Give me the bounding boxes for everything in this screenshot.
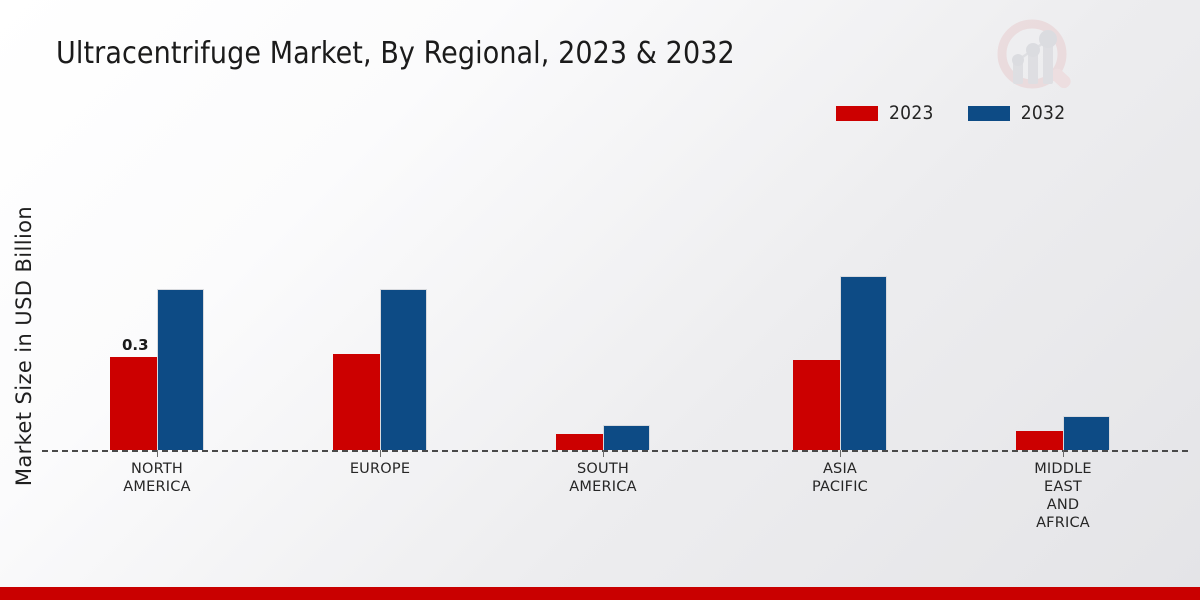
x-axis-label-asia-pacific: ASIAPACIFIC [755,460,925,496]
x-axis-label-europe: EUROPE [295,460,465,478]
bar-2023-north-america[interactable] [110,357,157,450]
x-axis-tick [380,450,381,457]
bar-2032-south-america[interactable] [603,425,650,450]
bar-2023-middle-east-and-africa[interactable] [1016,431,1063,450]
bar-value-label: 0.3 [122,336,149,354]
bar-2032-asia-pacific[interactable] [840,276,887,450]
x-axis-tick [840,450,841,457]
footer-accent-bar [0,587,1200,600]
x-axis-label-north-america: NORTHAMERICA [72,460,242,496]
x-axis-baseline [42,450,1188,452]
x-axis-tick [603,450,604,457]
x-axis-tick [157,450,158,457]
bar-2032-europe[interactable] [380,289,427,450]
bar-2023-europe[interactable] [333,354,380,450]
bar-2023-south-america[interactable] [556,434,603,450]
bar-2032-middle-east-and-africa[interactable] [1063,416,1110,450]
bar-2032-north-america[interactable] [157,289,204,450]
x-axis-label-south-america: SOUTHAMERICA [518,460,688,496]
x-axis-tick [1063,450,1064,457]
bar-2023-asia-pacific[interactable] [793,360,840,450]
chart-canvas: Ultracentrifuge Market, By Regional, 202… [0,0,1200,600]
x-axis-label-middle-east-and-africa: MIDDLEEASTANDAFRICA [978,460,1148,532]
plot-area: 0.3NORTHAMERICAEUROPESOUTHAMERICAASIAPAC… [0,0,1200,600]
